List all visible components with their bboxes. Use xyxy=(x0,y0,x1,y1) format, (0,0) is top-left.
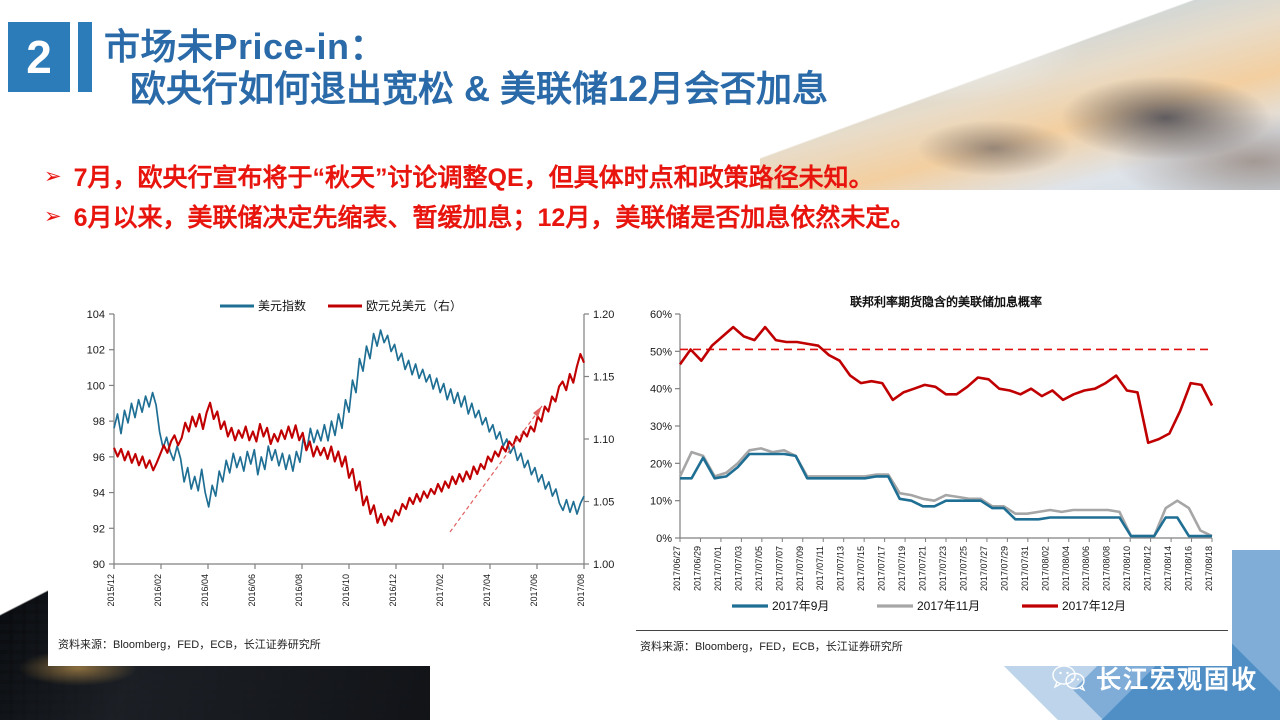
dxy-eurusd-chart: 90929496981001021041.001.051.101.151.202… xyxy=(48,286,620,631)
svg-text:欧元兑美元（右）: 欧元兑美元（右） xyxy=(366,298,462,313)
right-chart-source: 资料来源：Bloomberg，FED，ECB，长江证券研究所 xyxy=(640,638,903,654)
svg-text:2017/07/17: 2017/07/17 xyxy=(877,546,887,591)
svg-text:2017/07/11: 2017/07/11 xyxy=(815,546,825,590)
svg-text:1.00: 1.00 xyxy=(593,559,614,571)
divider xyxy=(636,630,1228,631)
svg-text:20%: 20% xyxy=(650,458,672,470)
svg-text:104: 104 xyxy=(87,309,105,321)
svg-text:2017年9月: 2017年9月 xyxy=(772,599,829,613)
svg-text:2017/07/09: 2017/07/09 xyxy=(795,546,805,591)
svg-text:2017/07/13: 2017/07/13 xyxy=(836,546,846,591)
svg-text:2017/04: 2017/04 xyxy=(482,574,492,607)
svg-text:2017/06: 2017/06 xyxy=(529,574,539,607)
svg-text:1.10: 1.10 xyxy=(593,434,614,446)
svg-text:102: 102 xyxy=(87,345,105,357)
svg-text:2017年12月: 2017年12月 xyxy=(1062,599,1126,613)
svg-text:1.05: 1.05 xyxy=(593,497,614,509)
slide: 2 市场未Price-in： 欧央行如何退出宽松 & 美联储12月会否加息 ➢ … xyxy=(0,0,1280,720)
svg-text:92: 92 xyxy=(93,523,105,535)
svg-text:2017/08/02: 2017/08/02 xyxy=(1040,546,1050,591)
left-chart-panel: 90929496981001021041.001.051.101.151.202… xyxy=(48,286,620,666)
svg-text:美元指数: 美元指数 xyxy=(258,298,306,313)
svg-text:2017/08/10: 2017/08/10 xyxy=(1122,546,1132,591)
svg-text:96: 96 xyxy=(93,452,105,464)
svg-text:2017/08/04: 2017/08/04 xyxy=(1061,546,1071,591)
svg-text:2017/08/18: 2017/08/18 xyxy=(1204,546,1214,591)
svg-text:2016/10: 2016/10 xyxy=(341,574,351,607)
svg-text:94: 94 xyxy=(93,488,105,500)
svg-text:2017/06/27: 2017/06/27 xyxy=(672,546,682,591)
arrow-bullet-icon: ➢ xyxy=(44,160,62,194)
title-line-2: 欧央行如何退出宽松 & 美联储12月会否加息 xyxy=(130,68,1084,110)
svg-text:2017年11月: 2017年11月 xyxy=(917,599,980,613)
svg-text:40%: 40% xyxy=(650,384,672,396)
section-number-badge: 2 xyxy=(8,22,70,92)
list-item: ➢ 6月以来，美联储决定先缩表、暂缓加息；12月，美联储是否加息依然未定。 xyxy=(44,200,1244,236)
watermark: 长江宏观固收 xyxy=(1052,660,1258,696)
svg-text:2017/07/25: 2017/07/25 xyxy=(958,546,968,591)
list-item: ➢ 7月，欧央行宣布将于“秋天”讨论调整QE，但具体时点和政策路径未知。 xyxy=(44,160,1244,196)
svg-text:90: 90 xyxy=(93,559,105,571)
svg-text:2017/07/23: 2017/07/23 xyxy=(938,546,948,591)
svg-text:2017/08/14: 2017/08/14 xyxy=(1163,546,1173,591)
svg-text:2016/06: 2016/06 xyxy=(247,574,257,607)
title-accent-bar xyxy=(78,22,92,92)
page-title: 市场未Price-in： 欧央行如何退出宽松 & 美联储12月会否加息 xyxy=(104,26,1084,111)
svg-text:2015/12: 2015/12 xyxy=(106,574,116,607)
svg-text:联邦利率期货隐含的美联储加息概率: 联邦利率期货隐含的美联储加息概率 xyxy=(850,294,1042,309)
svg-text:2017/08/06: 2017/08/06 xyxy=(1081,546,1091,591)
svg-text:2016/04: 2016/04 xyxy=(200,574,210,607)
svg-text:2017/07/07: 2017/07/07 xyxy=(774,546,784,591)
svg-text:2017/07/15: 2017/07/15 xyxy=(856,546,866,591)
svg-text:50%: 50% xyxy=(650,346,672,358)
bullet-text: 6月以来，美联储决定先缩表、暂缓加息；12月，美联储是否加息依然未定。 xyxy=(74,200,916,236)
left-chart-source: 资料来源：Bloomberg，FED，ECB，长江证券研究所 xyxy=(58,636,321,652)
svg-text:2017/07/01: 2017/07/01 xyxy=(713,546,723,591)
svg-text:2017/07/31: 2017/07/31 xyxy=(1020,546,1030,591)
svg-text:30%: 30% xyxy=(650,421,672,433)
fed-hike-probability-chart: 0%10%20%30%40%50%60%联邦利率期货隐含的美联储加息概率2017… xyxy=(632,286,1232,631)
svg-text:98: 98 xyxy=(93,416,105,428)
svg-text:2016/12: 2016/12 xyxy=(388,574,398,607)
svg-text:60%: 60% xyxy=(650,309,672,321)
watermark-label: 长江宏观固收 xyxy=(1096,660,1258,696)
wechat-icon xyxy=(1052,664,1086,692)
svg-text:2016/08: 2016/08 xyxy=(294,574,304,607)
svg-text:2017/08: 2017/08 xyxy=(576,574,586,607)
svg-text:1.15: 1.15 xyxy=(593,372,614,384)
svg-text:2017/06/29: 2017/06/29 xyxy=(692,546,702,591)
svg-text:2017/07/05: 2017/07/05 xyxy=(754,546,764,591)
arrow-bullet-icon: ➢ xyxy=(44,200,62,234)
right-chart-panel: 0%10%20%30%40%50%60%联邦利率期货隐含的美联储加息概率2017… xyxy=(632,286,1232,666)
svg-text:10%: 10% xyxy=(650,496,672,508)
svg-text:2016/02: 2016/02 xyxy=(153,574,163,607)
svg-text:100: 100 xyxy=(87,380,105,392)
svg-text:1.20: 1.20 xyxy=(593,309,614,321)
bullet-list: ➢ 7月，欧央行宣布将于“秋天”讨论调整QE，但具体时点和政策路径未知。 ➢ 6… xyxy=(44,160,1244,241)
svg-text:2017/07/21: 2017/07/21 xyxy=(918,546,928,591)
svg-text:0%: 0% xyxy=(656,533,672,545)
svg-text:2017/07/27: 2017/07/27 xyxy=(979,546,989,591)
title-line-1: 市场未Price-in： xyxy=(104,26,1084,68)
svg-text:2017/08/16: 2017/08/16 xyxy=(1184,546,1194,591)
svg-text:2017/07/03: 2017/07/03 xyxy=(733,546,743,591)
svg-text:2017/08/12: 2017/08/12 xyxy=(1143,546,1153,591)
svg-text:2017/07/19: 2017/07/19 xyxy=(897,546,907,591)
svg-text:2017/02: 2017/02 xyxy=(435,574,445,607)
bullet-text: 7月，欧央行宣布将于“秋天”讨论调整QE，但具体时点和政策路径未知。 xyxy=(74,160,874,196)
svg-text:2017/07/29: 2017/07/29 xyxy=(999,546,1009,591)
svg-text:2017/08/08: 2017/08/08 xyxy=(1102,546,1112,591)
